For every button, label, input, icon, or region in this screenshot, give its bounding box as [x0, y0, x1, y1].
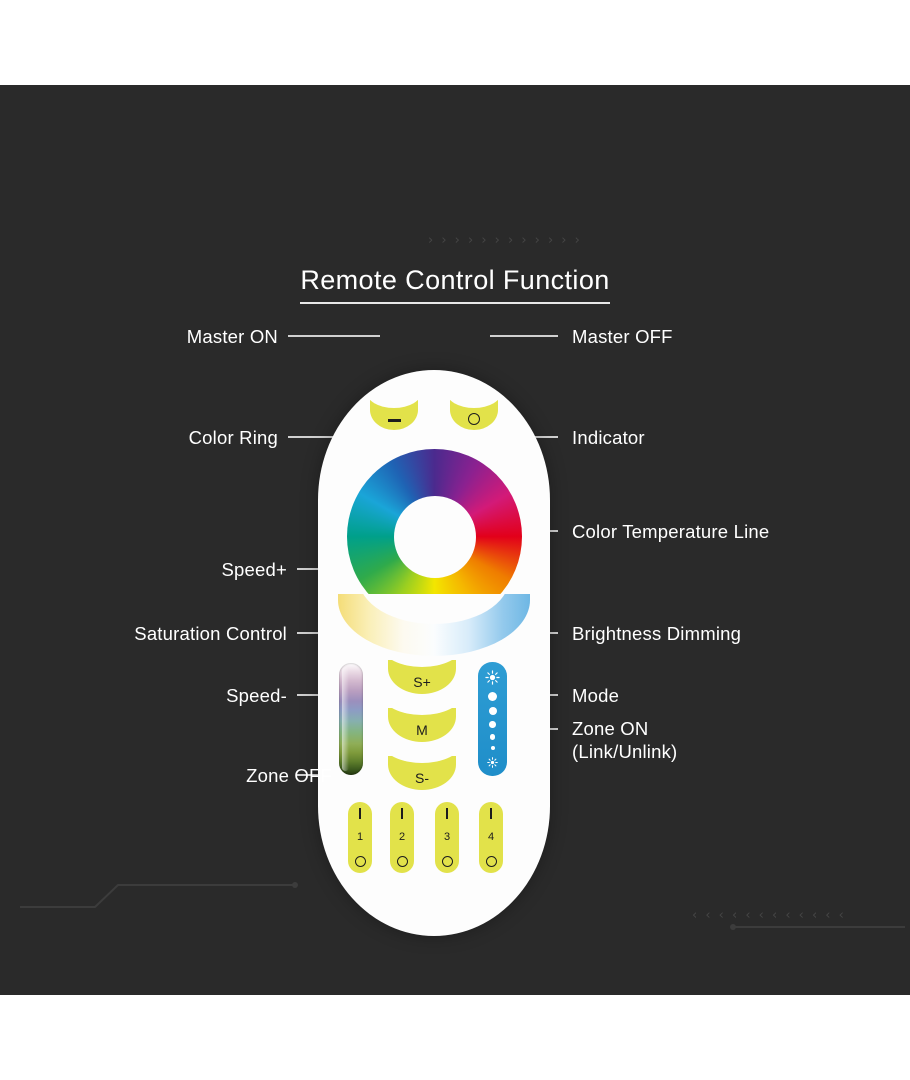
zone-button-2[interactable]: 2 [390, 802, 414, 873]
callout-speed-minus: Speed- [226, 684, 287, 707]
brightness-dot [490, 734, 496, 740]
zone-number: 3 [444, 832, 450, 843]
zone-off-icon[interactable] [442, 856, 453, 867]
zone-on-icon[interactable] [359, 808, 361, 819]
diagram-panel: › › › › › › › › › › › › ‹ ‹ ‹ ‹ ‹ ‹ ‹ ‹ … [0, 85, 910, 995]
callout-master-off: Master OFF [572, 325, 673, 348]
zone-on-icon[interactable] [446, 808, 448, 819]
zone-off-icon[interactable] [355, 856, 366, 867]
brightness-dot [491, 746, 495, 750]
mode-button[interactable]: M [388, 708, 456, 742]
indicator-center[interactable] [394, 496, 476, 578]
callout-indicator: Indicator [572, 426, 645, 449]
callout-color-temperature-line: Color Temperature Line [572, 520, 769, 543]
zone-button-4[interactable]: 4 [479, 802, 503, 873]
callout-mode: Mode [572, 684, 619, 707]
sun-dim-icon [487, 757, 498, 768]
callout-brightness-dimming: Brightness Dimming [572, 622, 741, 645]
speed-down-label: S- [388, 770, 456, 786]
slider-sheen [342, 667, 349, 771]
master-off-button[interactable] [450, 400, 498, 430]
sun-bright-icon [485, 670, 500, 685]
zone-button-1[interactable]: 1 [348, 802, 372, 873]
speed-up-button[interactable]: S+ [388, 660, 456, 694]
saturation-slider[interactable] [339, 663, 363, 775]
zone-number: 4 [488, 832, 494, 843]
minus-icon [370, 414, 418, 425]
callout-zone-on: Zone ON (Link/Unlink) [572, 717, 677, 763]
remote-control-body: S+ M S- [318, 370, 550, 936]
zone-number: 1 [357, 832, 363, 843]
chevron-left-decor-icon: ‹ ‹ ‹ ‹ ‹ ‹ ‹ ‹ ‹ ‹ ‹ ‹ [692, 908, 846, 923]
speed-down-button[interactable]: S- [388, 756, 456, 790]
brightness-slider[interactable] [478, 662, 507, 776]
zone-off-icon[interactable] [397, 856, 408, 867]
zone-on-icon[interactable] [490, 808, 492, 819]
page-title: Remote Control Function [300, 265, 609, 304]
callout-saturation-control: Saturation Control [134, 622, 287, 645]
zone-off-icon[interactable] [486, 856, 497, 867]
callout-speed-plus: Speed+ [222, 558, 288, 581]
speed-up-label: S+ [388, 674, 456, 690]
brightness-dot [489, 721, 496, 728]
master-on-button[interactable] [370, 400, 418, 430]
zone-on-icon[interactable] [401, 808, 403, 819]
zone-number: 2 [399, 832, 405, 843]
power-circle-icon [450, 413, 498, 425]
chevron-right-decor-icon: › › › › › › › › › › › › [428, 233, 582, 248]
brightness-dot [488, 692, 497, 701]
callout-zone-off: Zone OFF [246, 764, 332, 787]
brightness-dot [489, 707, 497, 715]
color-temperature-line[interactable] [338, 594, 530, 656]
page-title-container: Remote Control Function [0, 265, 910, 304]
zone-button-3[interactable]: 3 [435, 802, 459, 873]
callout-color-ring: Color Ring [189, 426, 278, 449]
callout-master-on: Master ON [187, 325, 278, 348]
mode-label: M [388, 722, 456, 738]
